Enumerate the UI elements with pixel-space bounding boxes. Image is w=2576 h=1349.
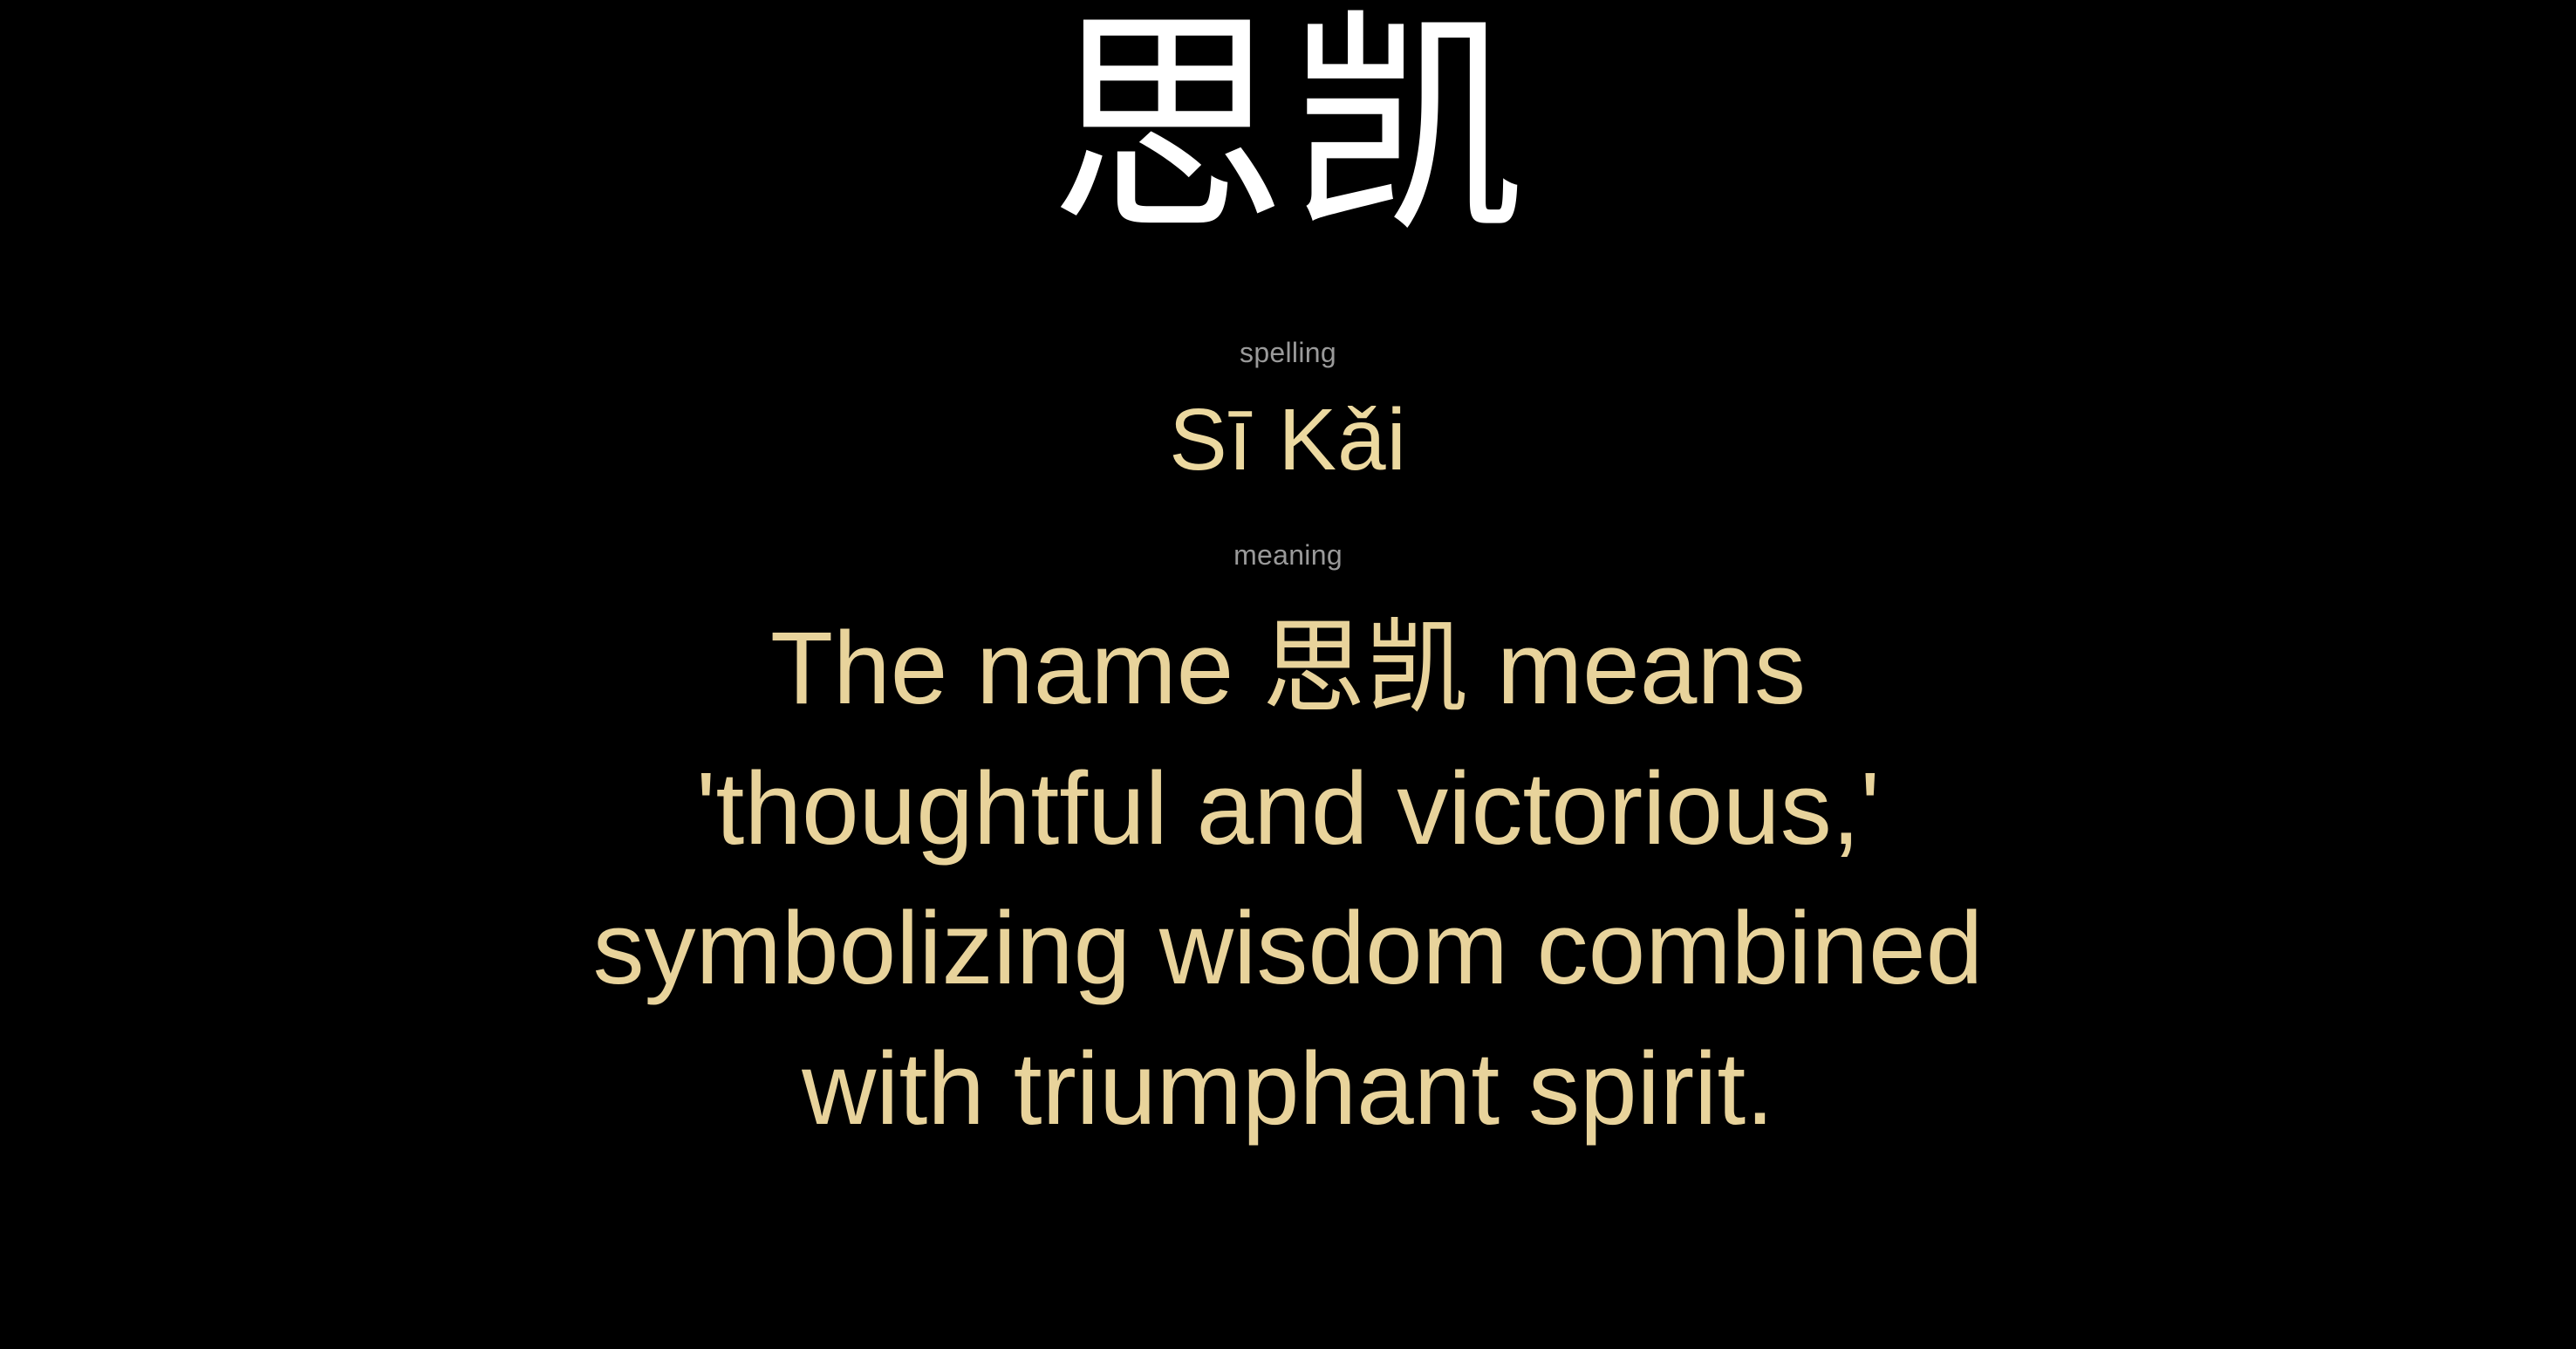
meaning-value: The name 思凯 means 'thoughtful and victor… — [573, 599, 2004, 1159]
meaning-label: meaning — [1233, 541, 1343, 569]
spelling-label: spelling — [1240, 339, 1336, 366]
spelling-value: Sī Kǎi — [1169, 391, 1407, 489]
name-characters: 思凯 — [1049, 2, 1527, 253]
chinese-name-card: 思凯 spelling Sī Kǎi meaning The name 思凯 m… — [0, 0, 2576, 1349]
